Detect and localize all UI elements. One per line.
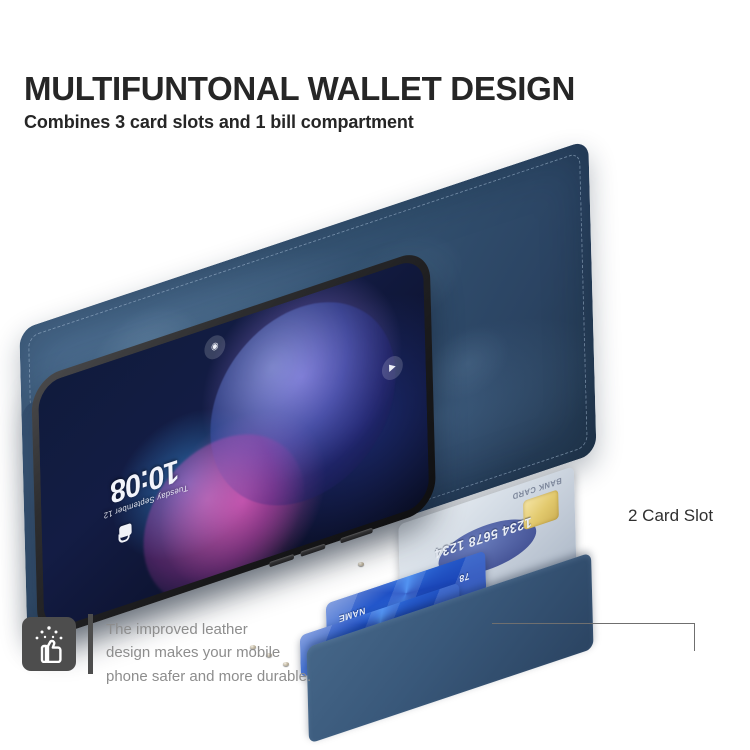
lock-icon <box>119 523 132 539</box>
footer-description: The improved leather design makes your m… <box>106 618 311 688</box>
product-feature-image: MULTIFUNTONAL WALLET DESIGN Combines 3 c… <box>0 0 750 750</box>
thumbs-up-icon <box>22 617 76 671</box>
callout-label-2-card-slot: 2 Card Slot <box>628 506 713 526</box>
volume-button <box>301 543 326 556</box>
volume-button <box>269 554 294 567</box>
footer-line-1: The improved leather <box>106 618 311 641</box>
page-subtitle: Combines 3 card slots and 1 bill compart… <box>24 112 414 133</box>
wallpaper-orb-secondary <box>141 411 307 628</box>
product-photo: BANK CARD 1234 5678 1234 00/00 78 NAME 9… <box>0 150 750 610</box>
footer-line-3: phone safer and more durable. <box>106 665 311 688</box>
camera-icon[interactable]: ◉ <box>204 333 225 363</box>
callout-leader-horizontal <box>492 623 695 624</box>
footer-line-2: design makes your mobile <box>106 641 311 664</box>
page-title: MULTIFUNTONAL WALLET DESIGN <box>24 70 575 108</box>
footer-divider <box>88 614 93 674</box>
wallet-rivet <box>358 562 364 566</box>
callout-leader-vertical <box>694 623 695 651</box>
